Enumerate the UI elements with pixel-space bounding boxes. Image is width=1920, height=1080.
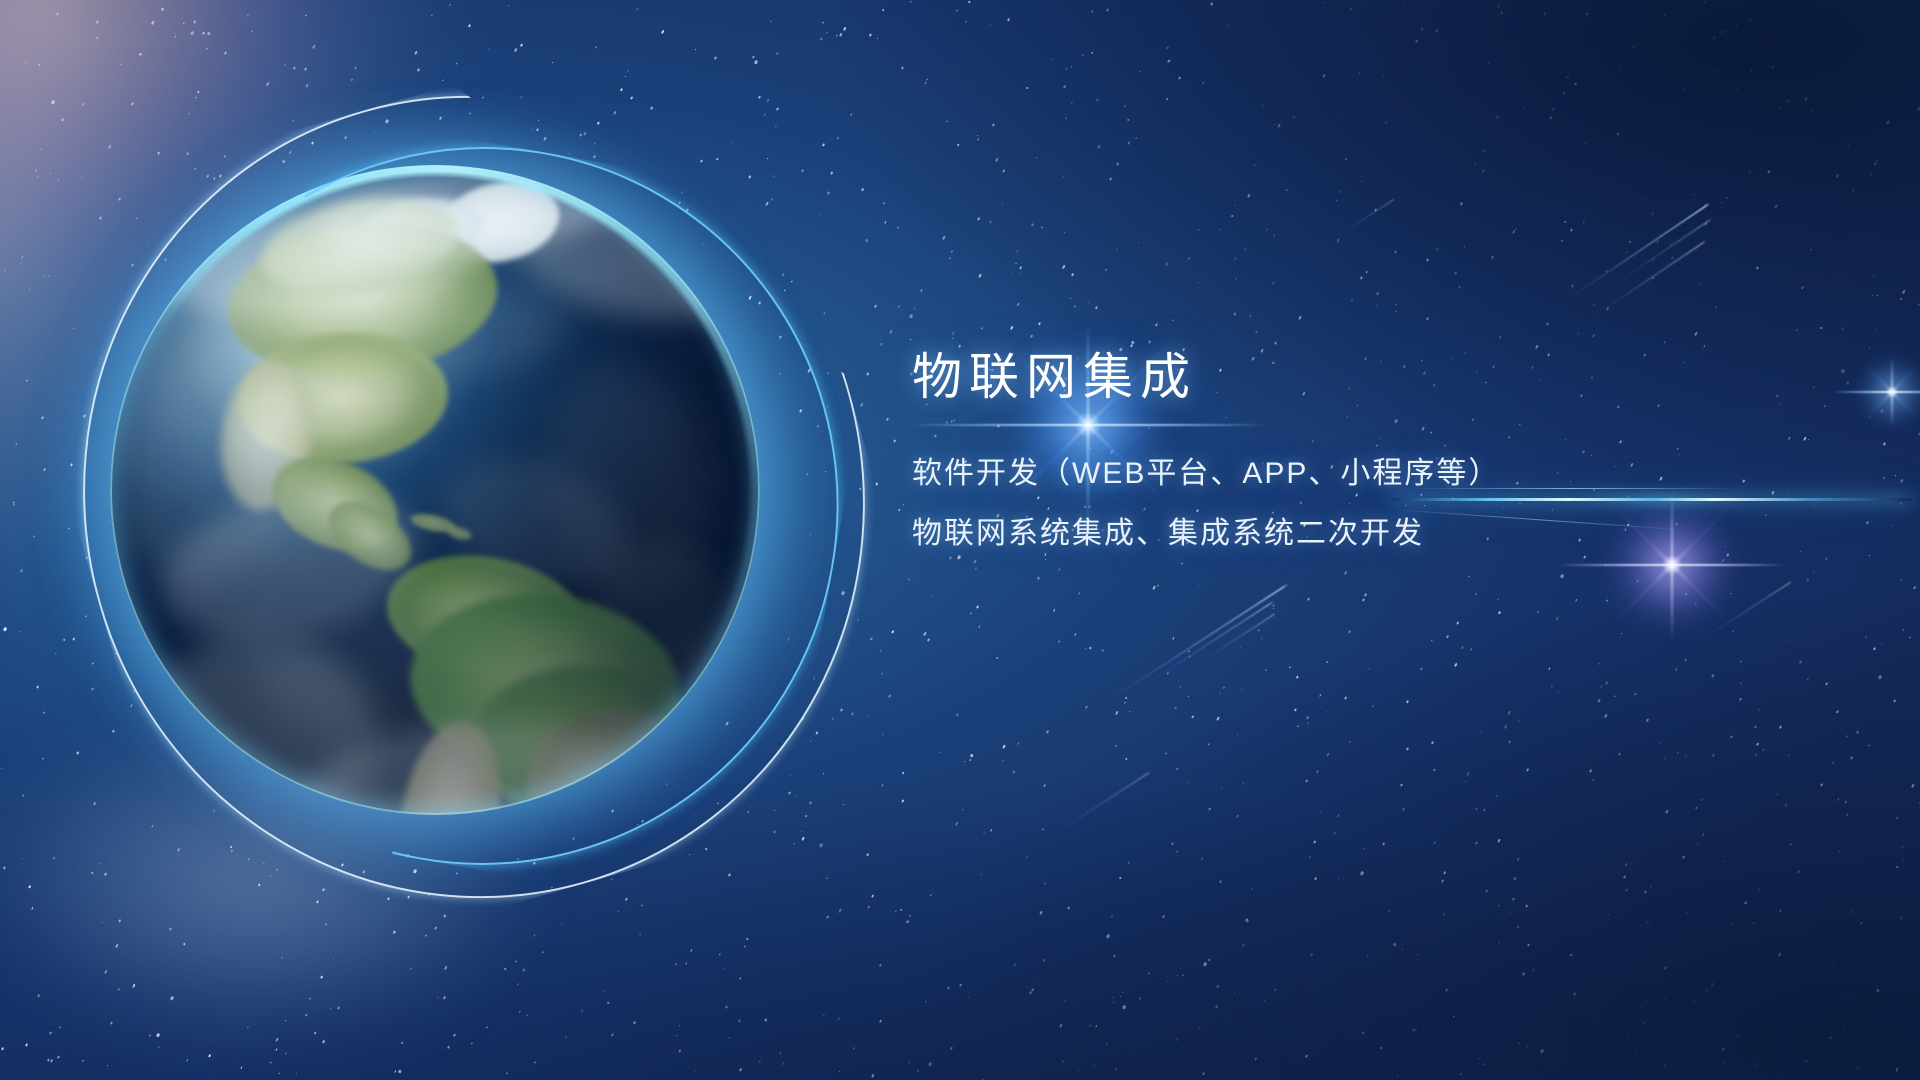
subtitle-line-1: 软件开发（WEB平台、APP、小程序等） (912, 459, 1812, 489)
globe-sphere (110, 165, 760, 815)
page-title: 物联网集成 (912, 352, 1812, 402)
earth-globe (110, 165, 760, 815)
subtitle-line-2: 物联网系统集成、集成系统二次开发 (912, 519, 1812, 549)
banner-stage: 物联网集成 软件开发（WEB平台、APP、小程序等） 物联网系统集成、集成系统二… (0, 0, 1920, 1080)
banner-copy: 物联网集成 软件开发（WEB平台、APP、小程序等） 物联网系统集成、集成系统二… (912, 352, 1812, 549)
globe-rim-highlight (110, 165, 760, 815)
